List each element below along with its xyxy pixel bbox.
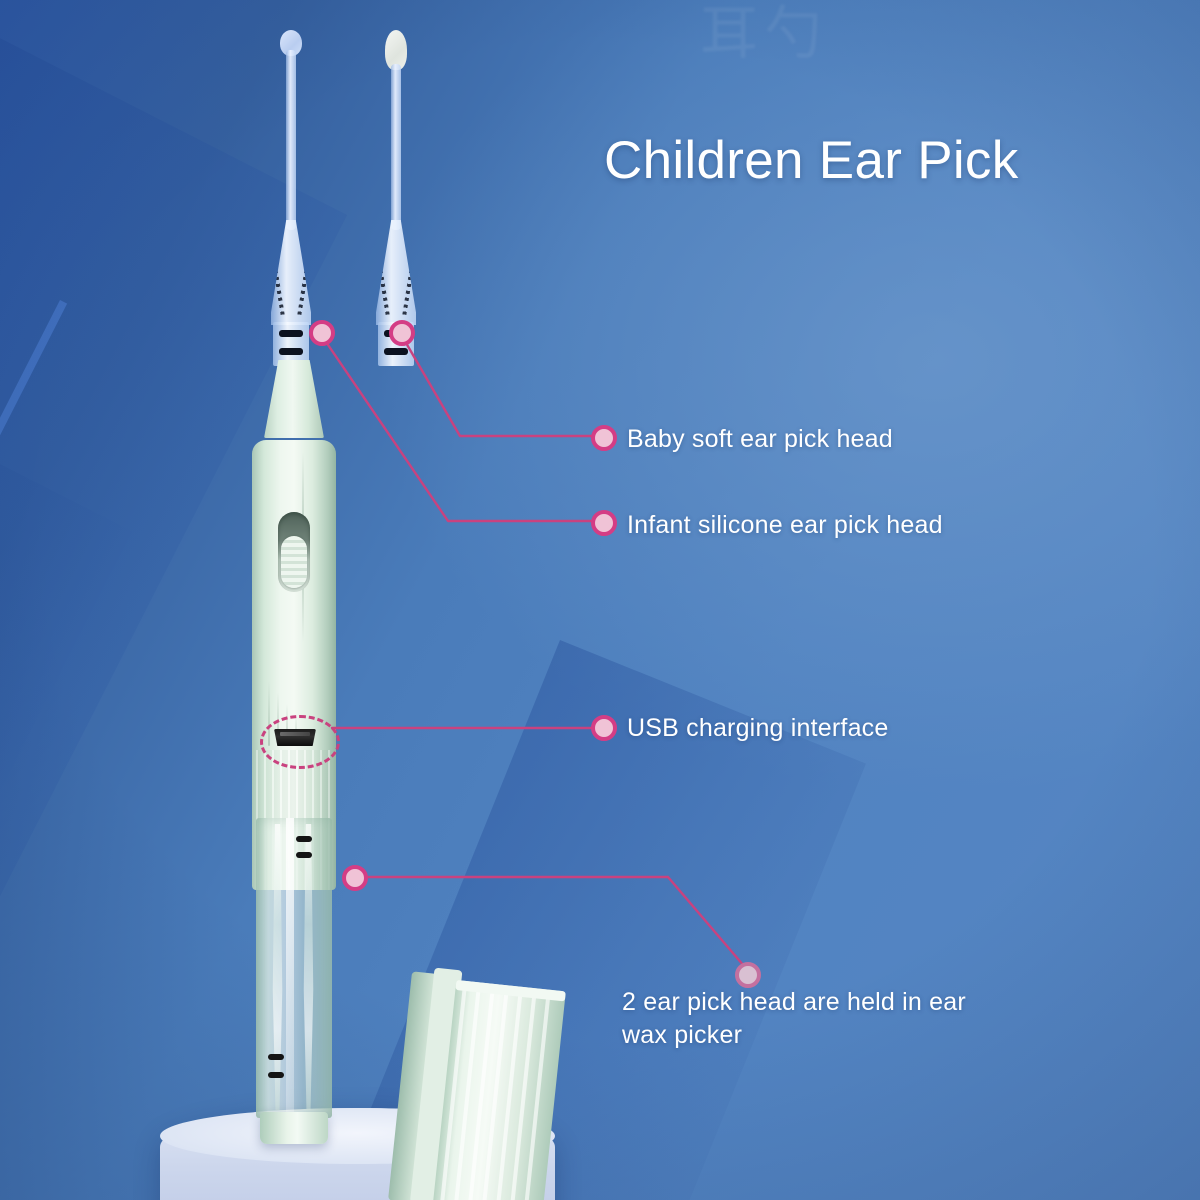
callout-leader-lines [0, 0, 1200, 1200]
leader-line-infant-silicone [322, 336, 595, 521]
callout-label-infant-silicone: Infant silicone ear pick head [627, 509, 943, 542]
anchor-dot-baby-soft [389, 320, 415, 346]
page-title: Children Ear Pick [604, 132, 1019, 190]
leader-line-wax-picker [368, 877, 744, 966]
product-infographic-canvas: 耳勺 [0, 0, 1200, 1200]
anchor-dot-infant-silicone [309, 320, 335, 346]
label-dot-wax-picker [735, 962, 761, 988]
anchor-dot-wax-picker [342, 865, 368, 891]
callout-label-wax-picker: 2 ear pick head are held in ear wax pick… [622, 986, 966, 1052]
label-dot-baby-soft [591, 425, 617, 451]
label-dot-usb [591, 715, 617, 741]
callout-label-usb: USB charging interface [627, 712, 888, 745]
leader-line-baby-soft [402, 336, 595, 436]
label-dot-infant-silicone [591, 510, 617, 536]
callout-label-baby-soft: Baby soft ear pick head [627, 423, 893, 456]
